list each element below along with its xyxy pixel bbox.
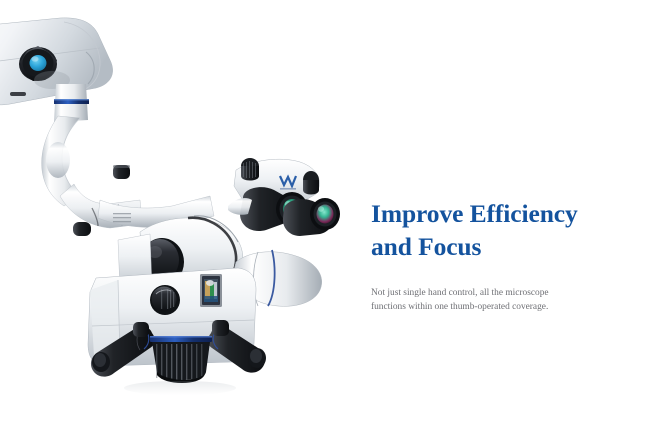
objective-lens: [150, 336, 212, 383]
arm-knob-upper: [113, 165, 130, 179]
eyepiece-adjust-knob-right: [303, 171, 319, 195]
focus-knob: [150, 285, 180, 315]
product-image-surgical-microscope: [0, 0, 360, 400]
control-display[interactable]: [200, 274, 222, 307]
microscope-illustration: [0, 0, 360, 400]
text-panel: Improve Efficiency and Focus Not just si…: [371, 198, 611, 264]
binocular-eyepieces: [228, 158, 340, 236]
eyepiece-barrel-right: [283, 198, 340, 236]
knob-cyan-center: [30, 55, 47, 71]
ground-shadow: [124, 381, 236, 395]
page-title: Improve Efficiency and Focus: [371, 198, 611, 264]
eyepiece-adjust-knob: [241, 158, 259, 181]
arm-knob-lower: [73, 222, 91, 236]
slide-canvas: Improve Efficiency and Focus Not just si…: [0, 0, 650, 423]
body-copy: Not just single hand control, all the mi…: [371, 286, 573, 315]
